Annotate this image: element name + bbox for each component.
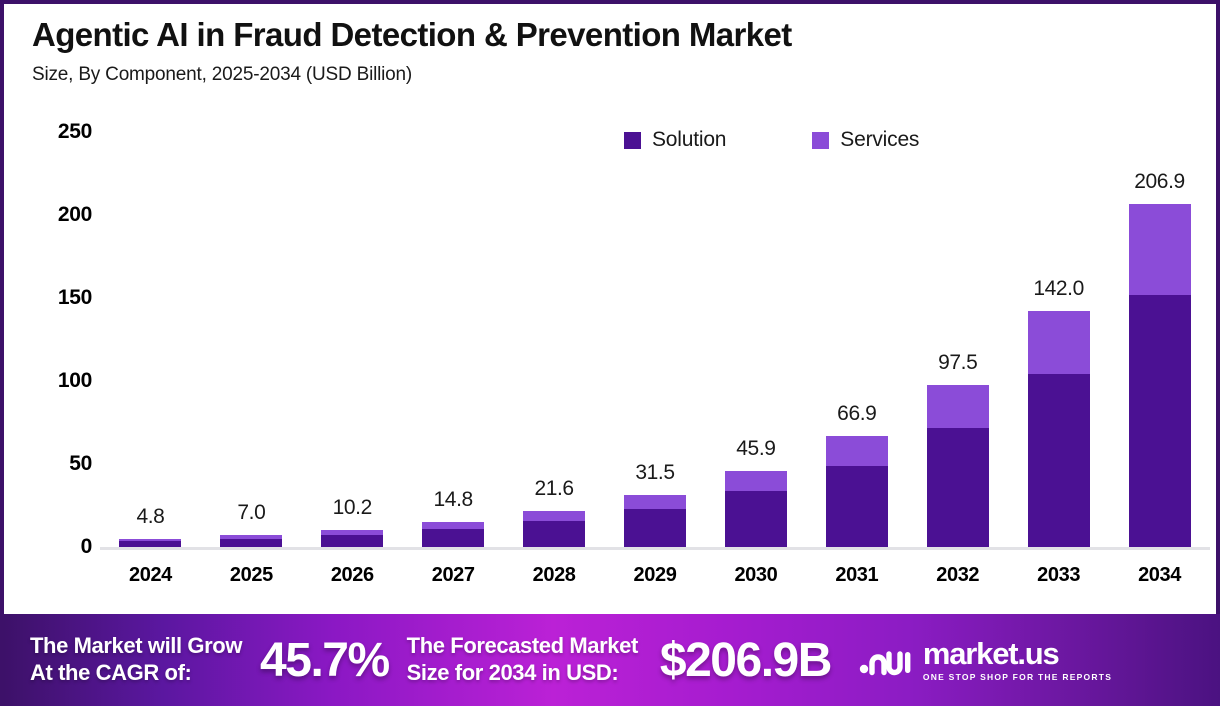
market-us-logo-icon (859, 641, 913, 679)
bar-value-label: 21.6 (534, 477, 573, 501)
footer-banner: The Market will Grow At the CAGR of: 45.… (4, 614, 1220, 706)
bar-group-2030[interactable]: 45.92030 (725, 4, 787, 616)
y-axis: 050100150200250 (20, 4, 92, 616)
stacked-bar[interactable] (725, 471, 787, 547)
x-axis-tick: 2025 (230, 564, 273, 587)
bar-group-2029[interactable]: 31.52029 (624, 4, 686, 616)
plot-area: 050100150200250 4.820247.0202510.2202614… (4, 4, 1220, 616)
bar-segment-services[interactable] (1028, 311, 1090, 374)
x-axis-tick: 2026 (331, 564, 374, 587)
bar-segment-solution[interactable] (826, 466, 888, 548)
y-axis-tick: 50 (69, 452, 92, 476)
stacked-bar[interactable] (119, 539, 181, 547)
bar-segment-solution[interactable] (119, 541, 181, 547)
x-axis-tick: 2030 (734, 564, 777, 587)
stacked-bar[interactable] (523, 511, 585, 547)
y-axis-tick: 200 (58, 203, 92, 227)
stacked-bar[interactable] (927, 385, 989, 547)
bar-value-label: 4.8 (136, 505, 164, 529)
bar-value-label: 206.9 (1134, 170, 1185, 194)
stacked-bar[interactable] (220, 535, 282, 547)
bar-value-label: 45.9 (736, 437, 775, 461)
x-axis-tick: 2031 (835, 564, 878, 587)
bar-value-label: 31.5 (635, 461, 674, 485)
forecast-size-value: $206.9B (660, 633, 831, 688)
stacked-bar[interactable] (1129, 204, 1191, 547)
x-axis-tick: 2033 (1037, 564, 1080, 587)
cagr-caption: The Market will Grow At the CAGR of: (30, 633, 242, 687)
bar-segment-solution[interactable] (725, 491, 787, 547)
forecast-size-caption-line2: Size for 2034 in USD: (407, 660, 638, 687)
bar-group-2027[interactable]: 14.82027 (422, 4, 484, 616)
bar-segment-services[interactable] (1129, 204, 1191, 296)
bar-group-2031[interactable]: 66.92031 (826, 4, 888, 616)
y-axis-tick: 150 (58, 286, 92, 310)
bar-segment-services[interactable] (725, 471, 787, 491)
bar-value-label: 10.2 (333, 496, 372, 520)
stacked-bar[interactable] (1028, 311, 1090, 547)
bar-group-2028[interactable]: 21.62028 (523, 4, 585, 616)
bar-group-2026[interactable]: 10.22026 (321, 4, 383, 616)
bar-segment-solution[interactable] (321, 535, 383, 547)
bar-series-container: 4.820247.0202510.2202614.8202721.6202831… (100, 4, 1210, 616)
brand-logo[interactable]: market.us ONE STOP SHOP FOR THE REPORTS (859, 638, 1112, 682)
bar-segment-solution[interactable] (523, 521, 585, 547)
forecast-size-caption: The Forecasted Market Size for 2034 in U… (407, 633, 638, 687)
bar-segment-solution[interactable] (1129, 295, 1191, 547)
bar-segment-services[interactable] (422, 522, 484, 529)
x-axis-tick: 2027 (432, 564, 475, 587)
forecast-size-caption-line1: The Forecasted Market (407, 633, 638, 660)
bar-group-2024[interactable]: 4.82024 (119, 4, 181, 616)
bar-segment-solution[interactable] (624, 509, 686, 547)
x-axis-tick: 2024 (129, 564, 172, 587)
bar-group-2033[interactable]: 142.02033 (1028, 4, 1090, 616)
brand-tagline: ONE STOP SHOP FOR THE REPORTS (923, 673, 1112, 682)
bar-group-2034[interactable]: 206.92034 (1129, 4, 1191, 616)
bar-value-label: 97.5 (938, 351, 977, 375)
cagr-value: 45.7% (260, 633, 389, 688)
bar-segment-services[interactable] (927, 385, 989, 428)
bar-value-label: 14.8 (434, 488, 473, 512)
cagr-caption-line2: At the CAGR of: (30, 660, 242, 687)
stacked-bar[interactable] (422, 522, 484, 547)
stacked-bar[interactable] (624, 495, 686, 547)
bar-segment-solution[interactable] (927, 428, 989, 547)
bar-segment-services[interactable] (523, 511, 585, 521)
bar-value-label: 7.0 (237, 501, 265, 525)
brand-name: market.us (923, 638, 1112, 669)
bar-segment-solution[interactable] (422, 529, 484, 547)
bar-segment-solution[interactable] (220, 539, 282, 547)
bar-group-2025[interactable]: 7.02025 (220, 4, 282, 616)
bar-segment-solution[interactable] (1028, 374, 1090, 547)
stacked-bar[interactable] (321, 530, 383, 547)
x-axis-tick: 2029 (634, 564, 677, 587)
brand-text: market.us ONE STOP SHOP FOR THE REPORTS (923, 638, 1112, 682)
x-axis-tick: 2032 (936, 564, 979, 587)
bar-segment-services[interactable] (826, 436, 888, 466)
y-axis-tick: 0 (81, 535, 92, 559)
bar-group-2032[interactable]: 97.52032 (927, 4, 989, 616)
chart-infographic: Agentic AI in Fraud Detection & Preventi… (0, 0, 1220, 706)
bar-value-label: 142.0 (1033, 277, 1084, 301)
cagr-caption-line1: The Market will Grow (30, 633, 242, 660)
x-axis-tick: 2034 (1138, 564, 1181, 587)
bar-value-label: 66.9 (837, 402, 876, 426)
bar-segment-services[interactable] (624, 495, 686, 509)
y-axis-tick: 250 (58, 120, 92, 144)
y-axis-tick: 100 (58, 369, 92, 393)
x-axis-tick: 2028 (533, 564, 576, 587)
stacked-bar[interactable] (826, 436, 888, 547)
